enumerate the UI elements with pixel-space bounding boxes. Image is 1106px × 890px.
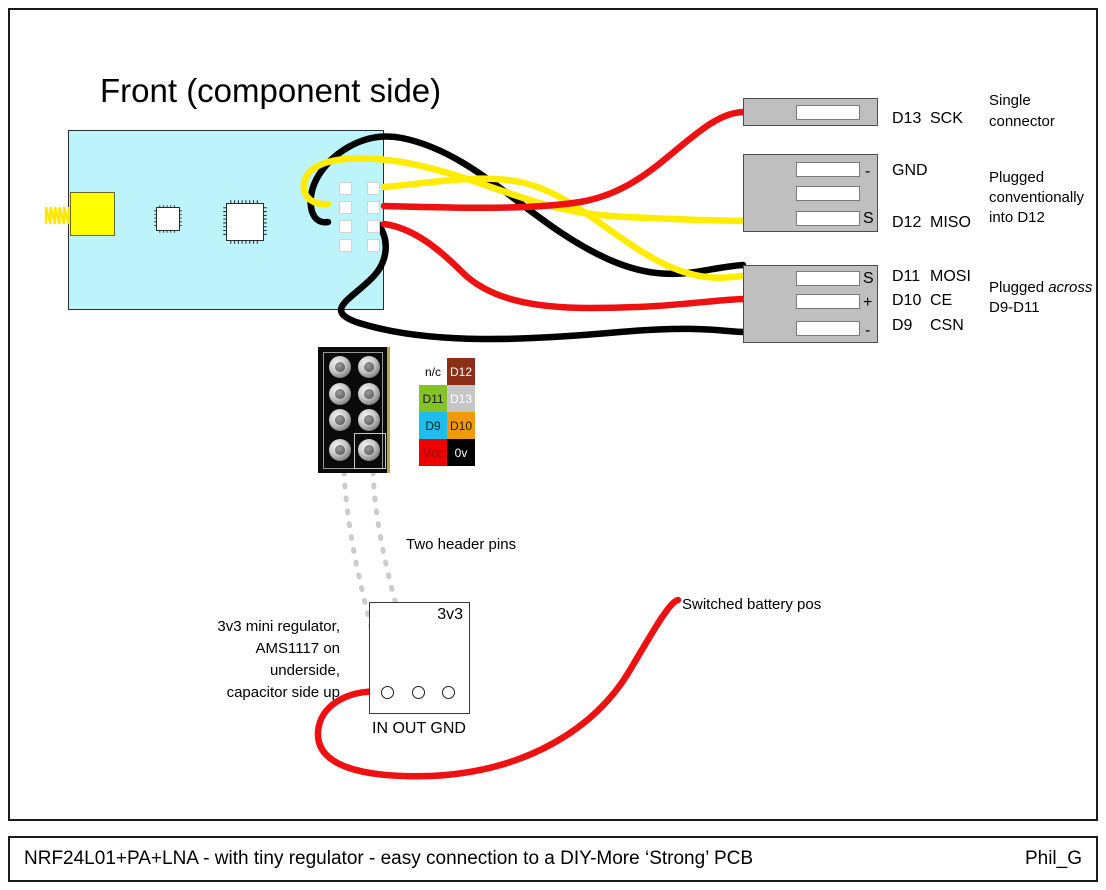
regulator-desc-line3: capacitor side up [200, 682, 340, 704]
regulator-description: 3v3 mini regulator, AMS1117 on underside… [200, 616, 340, 704]
note-across-text-a: Plugged [989, 279, 1048, 296]
label-switched-battery: Switched battery pos [682, 596, 821, 613]
connector-upper-sign-minus: - [865, 164, 870, 180]
wire-yellow-mosi [384, 179, 743, 278]
pcb-pad-3-2 [367, 220, 380, 233]
legend-cell-nc: n/c [419, 358, 447, 385]
note-conventional-line3: into D12 [989, 209, 1045, 227]
connector-upper-sign-s: S [863, 211, 874, 227]
solder-pad-1 [329, 356, 351, 378]
antenna-coil-icon [44, 202, 72, 228]
pin-label-sck: SCK [930, 110, 963, 128]
regulator-hole-in [381, 686, 394, 699]
connector-lower-three[interactable]: S + - [743, 265, 878, 343]
chip-large-legs [227, 204, 263, 240]
note-across-text-b: across [1048, 279, 1092, 296]
pcb-pad-4-2 [367, 239, 380, 252]
solder-pad-5 [329, 409, 351, 431]
caption-author: Phil_G [1025, 848, 1082, 870]
pin-label-d10: D10 [892, 292, 921, 310]
antenna-connector [70, 192, 115, 236]
chip-small [156, 207, 180, 231]
legend-cell-d10: D10 [447, 412, 475, 439]
regulator-hole-gnd [442, 686, 455, 699]
note-single-connector-line1: Single [989, 92, 1031, 110]
regulator-marking: 3v3 [437, 606, 463, 624]
solder-pad-7 [329, 439, 351, 461]
note-conventional-line1: Plugged [989, 169, 1044, 187]
connector-lower-slot-1 [796, 271, 860, 286]
pin-label-gnd: GND [892, 162, 928, 180]
solder-pad-4 [358, 383, 380, 405]
connector-lower-sign-minus: - [865, 323, 870, 339]
connector-lower-sign-plus: + [863, 295, 872, 311]
pcb-pad-3-1 [339, 220, 352, 233]
chip-large [226, 203, 264, 241]
note-across-line2: D9-D11 [989, 299, 1040, 317]
wire-red-ce [384, 224, 743, 308]
pcb-pad-4-1 [339, 239, 352, 252]
chip-small-legs [157, 208, 179, 230]
connector-upper-three[interactable]: - S [743, 154, 878, 232]
diagram-canvas: Front (component side) [0, 0, 1106, 890]
pin-color-legend: n/c D12 D11 D13 D9 D10 Vcc 0v [418, 357, 476, 467]
regulator-desc-line1: 3v3 mini regulator, [200, 616, 340, 638]
solder-pad-3 [329, 383, 351, 405]
pin-label-miso: MISO [930, 214, 971, 232]
page-title: Front (component side) [100, 72, 441, 110]
connector-lower-slot-3 [796, 321, 860, 336]
pin-label-ce: CE [930, 292, 952, 310]
legend-cell-vcc: Vcc [419, 439, 447, 466]
pin-label-csn: CSN [930, 317, 964, 335]
label-two-header-pins: Two header pins [406, 536, 516, 553]
caption-title: NRF24L01+PA+LNA - with tiny regulator - … [24, 848, 753, 870]
pcb-pad-1-2 [367, 182, 380, 195]
regulator-desc-line2: AMS1117 on underside, [200, 638, 340, 682]
solder-pad-6 [358, 409, 380, 431]
pcb-pad-2-1 [339, 201, 352, 214]
pin-label-d12: D12 [892, 214, 921, 232]
pin-label-d9: D9 [892, 317, 912, 335]
connector-upper-slot-3 [796, 211, 860, 226]
diagram-frame: Front (component side) [8, 8, 1098, 821]
pin-label-mosi: MOSI [930, 268, 971, 286]
regulator-hole-out [412, 686, 425, 699]
pcb-pad-1-1 [339, 182, 352, 195]
legend-cell-d12: D12 [447, 358, 475, 385]
connector-upper-slot-1 [796, 162, 860, 177]
note-single-connector-line2: connector [989, 113, 1055, 131]
solder-pad-2 [358, 356, 380, 378]
legend-cell-d11: D11 [419, 385, 447, 412]
note-across-line1: Plugged across [989, 279, 1092, 297]
legend-cell-d13: D13 [447, 385, 475, 412]
pin-label-d11: D11 [892, 268, 920, 286]
wire-black-csn [341, 224, 743, 339]
pin-label-d13: D13 [892, 110, 921, 128]
note-conventional-line2: conventionally [989, 189, 1084, 207]
legend-cell-d9: D9 [419, 412, 447, 439]
connector-single-slot-1 [796, 105, 860, 120]
pcb-pad-2-2 [367, 201, 380, 214]
connector-lower-slot-2 [796, 294, 860, 309]
connector-single[interactable] [743, 98, 878, 126]
caption-bar: NRF24L01+PA+LNA - with tiny regulator - … [8, 836, 1098, 882]
connector-lower-sign-s: S [863, 271, 874, 287]
connector-upper-slot-2 [796, 186, 860, 201]
header-pins-photo [318, 347, 390, 473]
solder-pad-8 [358, 439, 380, 461]
legend-cell-0v: 0v [447, 439, 475, 466]
wire-red-sck [384, 112, 746, 208]
regulator-pin-names: IN OUT GND [372, 720, 466, 738]
